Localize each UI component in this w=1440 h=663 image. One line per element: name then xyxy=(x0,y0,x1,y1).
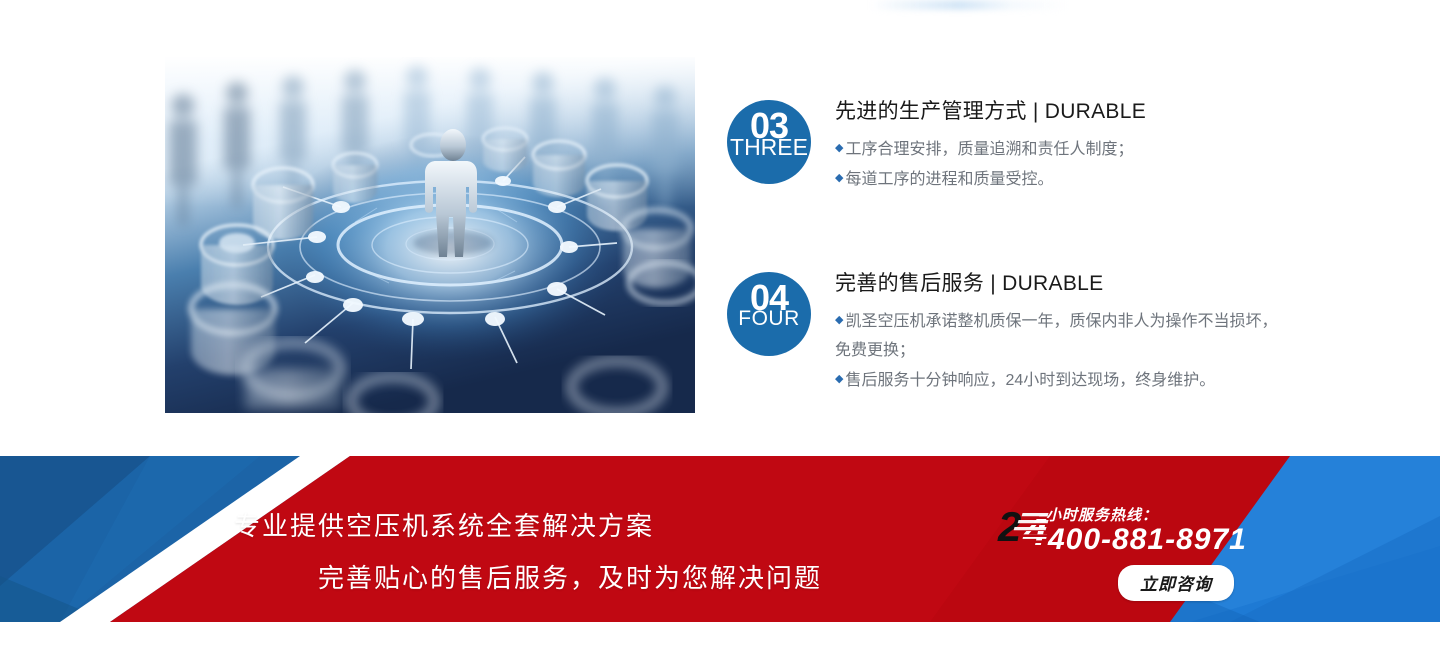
diamond-bullet-icon: ◆ xyxy=(835,172,843,184)
feature-line: ◆售后服务十分钟响应，24小时到达现场，终身维护。 xyxy=(835,365,1287,395)
feature-item-03: 03 THREE 先进的生产管理方式 | DURABLE ◆工序合理安排，质量追… xyxy=(727,98,1287,194)
diamond-bullet-icon: ◆ xyxy=(835,142,843,154)
badge-word: THREE xyxy=(727,134,811,160)
hotline-number: 400-881-8971 xyxy=(1048,523,1247,557)
consult-now-button[interactable]: 立即咨询 xyxy=(1118,565,1234,601)
feature-item-04: 04 FOUR 完善的售后服务 | DURABLE ◆凯圣空压机承诺整机质保一年… xyxy=(727,270,1287,395)
network-people-connection-photo xyxy=(165,57,695,413)
feature-line-text: 售后服务十分钟响应，24小时到达现场，终身维护。 xyxy=(845,372,1215,389)
feature-line-text: 凯圣空压机承诺整机质保一年，质保内非人为操作不当损坏，免费更换； xyxy=(835,313,1277,359)
feature-lines: ◆工序合理安排，质量追溯和责任人制度； ◆每道工序的进程和质量受控。 xyxy=(835,134,1287,194)
feature-list: 03 THREE 先进的生产管理方式 | DURABLE ◆工序合理安排，质量追… xyxy=(727,98,1287,395)
feature-body: 完善的售后服务 | DURABLE ◆凯圣空压机承诺整机质保一年，质保内非人为操… xyxy=(835,270,1287,395)
diamond-bullet-icon: ◆ xyxy=(835,314,843,326)
feature-line-text: 工序合理安排，质量追溯和责任人制度； xyxy=(845,141,1133,158)
badge-04: 04 FOUR xyxy=(727,272,811,356)
diamond-bullet-icon: ◆ xyxy=(835,373,843,385)
feature-line: ◆凯圣空压机承诺整机质保一年，质保内非人为操作不当损坏，免费更换； xyxy=(835,306,1287,365)
feature-line-text: 每道工序的进程和质量受控。 xyxy=(845,171,1053,188)
hotline-block: 2 4 小时服务热线： 400-881-8971 立即咨询 xyxy=(990,495,1310,605)
badge-03: 03 THREE xyxy=(727,100,811,184)
feature-body: 先进的生产管理方式 | DURABLE ◆工序合理安排，质量追溯和责任人制度； … xyxy=(835,98,1287,194)
feature-line: ◆工序合理安排，质量追溯和责任人制度； xyxy=(835,134,1287,164)
top-edge-smudge xyxy=(870,0,1070,10)
feature-line: ◆每道工序的进程和质量受控。 xyxy=(835,164,1287,194)
feature-title: 完善的售后服务 | DURABLE xyxy=(835,270,1287,298)
hotline-label: 小时服务热线： xyxy=(1046,504,1158,525)
svg-text:2: 2 xyxy=(997,503,1021,550)
badge-word: FOUR xyxy=(727,306,811,332)
feature-title: 先进的生产管理方式 | DURABLE xyxy=(835,98,1287,126)
feature-lines: ◆凯圣空压机承诺整机质保一年，质保内非人为操作不当损坏，免费更换； ◆售后服务十… xyxy=(835,306,1287,395)
